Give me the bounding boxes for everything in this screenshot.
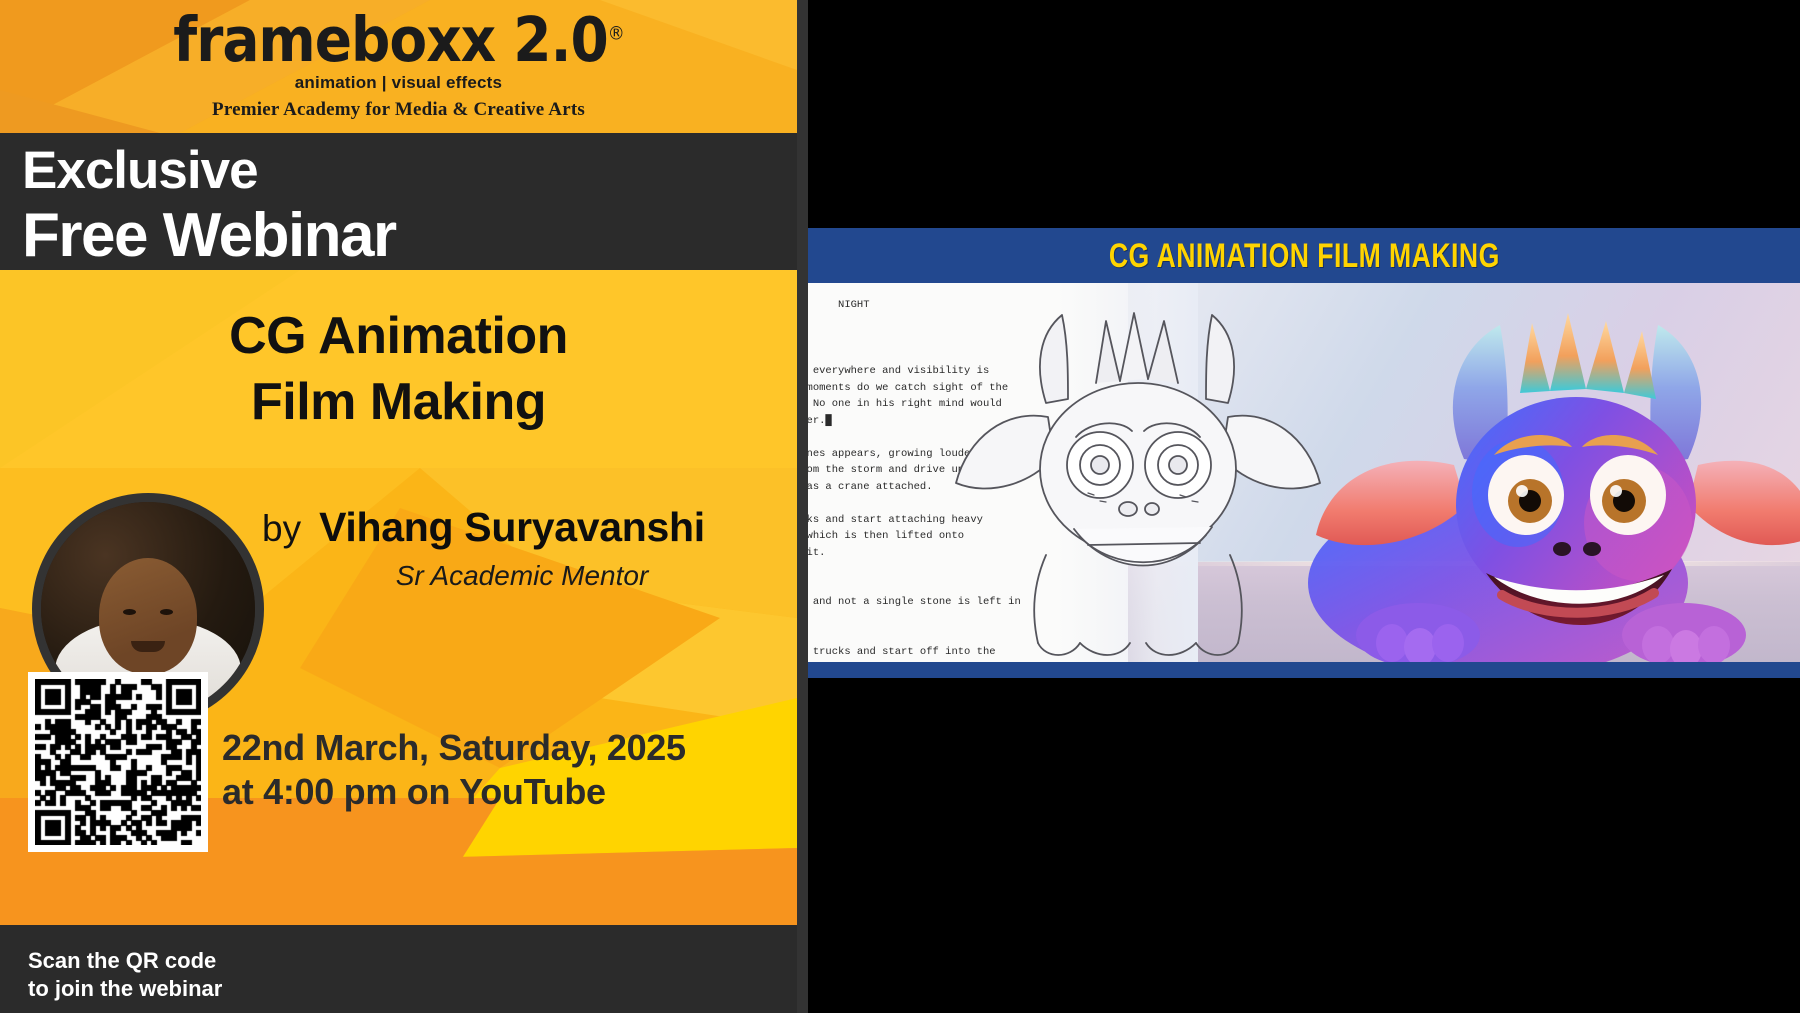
schedule-block: 22nd March, Saturday, 2025 at 4:00 pm on… bbox=[222, 726, 782, 814]
speaker-band: by Vihang Suryavanshi Sr Academic Mentor… bbox=[0, 468, 797, 925]
logo-tagline: Premier Academy for Media & Creative Art… bbox=[212, 99, 585, 121]
rendered-creature bbox=[1168, 283, 1800, 662]
video-bottom-bar bbox=[808, 662, 1800, 678]
panel-divider bbox=[797, 0, 808, 1013]
video-title-text: CG ANIMATION FILM MAKING bbox=[1109, 236, 1500, 276]
video-content: NIGHT E" Snow is everywhere and visibili… bbox=[808, 283, 1800, 662]
speaker-byline: by Vihang Suryavanshi bbox=[262, 504, 782, 551]
qr-code[interactable] bbox=[28, 672, 208, 852]
webinar-promo-screenshot: frameboxx 2.0® animation | visual effect… bbox=[0, 0, 1800, 1013]
schedule-date: 22nd March, Saturday, 2025 bbox=[222, 726, 782, 770]
qr-caption-line-2: to join the webinar bbox=[28, 975, 258, 1003]
logo-wordmark: frameboxx 2.0® bbox=[173, 9, 623, 71]
video-frame[interactable]: CG ANIMATION FILM MAKING NIGHT E" Snow i… bbox=[808, 228, 1800, 678]
qr-code-canvas[interactable] bbox=[35, 679, 201, 845]
headline-band: Exclusive Free Webinar bbox=[0, 133, 797, 270]
schedule-time: at 4:00 pm on YouTube bbox=[222, 770, 782, 814]
topic-line-1: CG Animation bbox=[229, 303, 568, 369]
headline-line-1: Exclusive bbox=[22, 141, 797, 201]
speaker-name: Vihang Suryavanshi bbox=[319, 504, 705, 551]
logo-wordmark-text: frameboxx 2.0 bbox=[173, 4, 607, 76]
topic-line-2: Film Making bbox=[251, 369, 546, 435]
brand-logo: frameboxx 2.0® animation | visual effect… bbox=[0, 0, 797, 133]
brand-logo-band: frameboxx 2.0® animation | visual effect… bbox=[0, 0, 797, 133]
registered-icon: ® bbox=[608, 22, 624, 44]
byline-prefix: by bbox=[262, 508, 301, 550]
speaker-role: Sr Academic Mentor bbox=[262, 560, 782, 592]
qr-caption-line-1: Scan the QR code bbox=[28, 947, 258, 975]
video-area[interactable]: CG ANIMATION FILM MAKING NIGHT E" Snow i… bbox=[808, 0, 1800, 1013]
avatar-eye-right bbox=[160, 609, 173, 615]
avatar-eye-left bbox=[123, 609, 136, 615]
video-title-banner: CG ANIMATION FILM MAKING bbox=[808, 228, 1800, 283]
promo-left-panel: frameboxx 2.0® animation | visual effect… bbox=[0, 0, 797, 1013]
avatar-head bbox=[99, 558, 197, 674]
qr-caption-strip: Scan the QR code to join the webinar bbox=[0, 925, 797, 1013]
topic-band: CG Animation Film Making bbox=[0, 270, 797, 468]
avatar-mouth bbox=[131, 641, 165, 652]
qr-caption: Scan the QR code to join the webinar bbox=[28, 947, 258, 1003]
headline-line-2: Free Webinar bbox=[22, 201, 797, 271]
